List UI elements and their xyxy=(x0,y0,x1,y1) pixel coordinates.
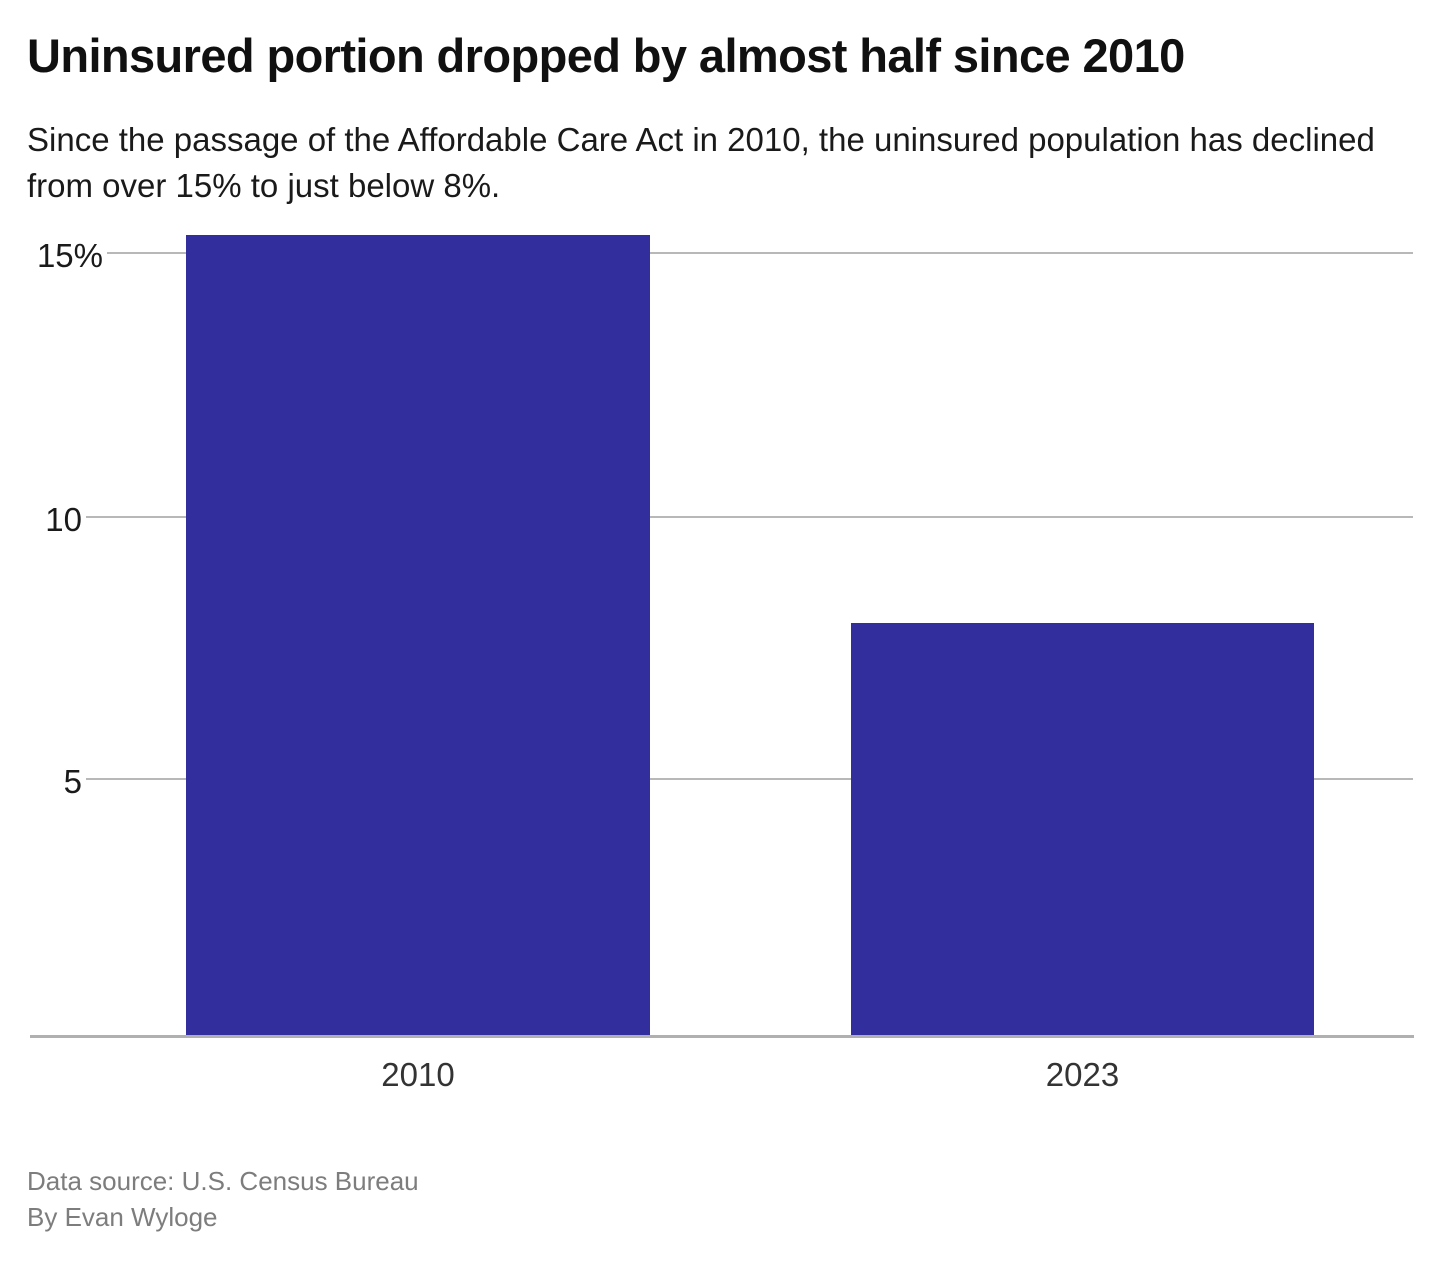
byline-text: By Evan Wyloge xyxy=(27,1199,419,1235)
chart-page: Uninsured portion dropped by almost half… xyxy=(0,0,1440,1272)
chart-footer: Data source: U.S. Census Bureau By Evan … xyxy=(27,1163,419,1235)
x-axis-line xyxy=(30,1035,1414,1038)
y-tick-label-15: 15% xyxy=(37,239,103,272)
x-tick-label-2023: 2023 xyxy=(851,1055,1314,1095)
y-tick-label-5: 5 xyxy=(64,765,82,798)
bar-chart-plot: 15% 10 5 2010 2023 xyxy=(0,0,1440,1100)
x-tick-label-2010: 2010 xyxy=(186,1055,650,1095)
bar-2010[interactable] xyxy=(186,235,650,1036)
y-tick-label-10: 10 xyxy=(45,503,82,536)
bar-2023[interactable] xyxy=(851,623,1314,1036)
data-source-text: Data source: U.S. Census Bureau xyxy=(27,1163,419,1199)
